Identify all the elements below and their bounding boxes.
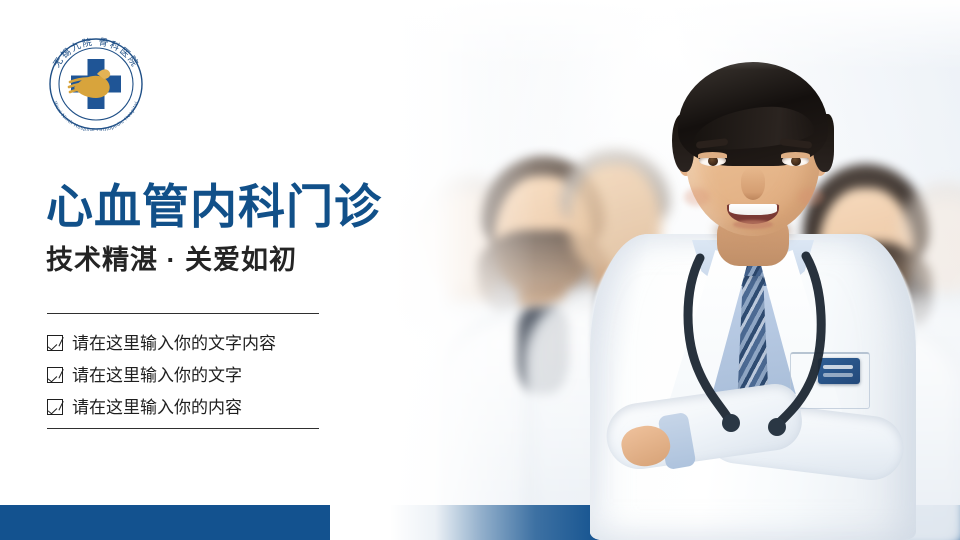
doctor-nose	[741, 168, 765, 200]
doctor-teeth	[729, 204, 777, 215]
doctor-id-badge	[818, 358, 860, 384]
footer-text: 无锡市第九人民医院 | www.yippt.com	[46, 0, 287, 35]
doctor-eyelid-left	[698, 152, 727, 158]
list-item-label: 请在这里输入你的文字内容	[72, 335, 276, 352]
page-title: 心血管内科门诊	[46, 182, 382, 232]
list-item-label: 请在这里输入你的文字	[72, 367, 242, 384]
list-item: 请在这里输入你的文字	[47, 359, 276, 391]
doctor-cheek-right	[798, 188, 824, 206]
divider-bottom	[47, 428, 319, 429]
divider-top	[47, 313, 319, 314]
bullet-list: 请在这里输入你的文字内容 请在这里输入你的文字 请在这里输入你的内容	[47, 327, 276, 423]
doctor-lower-lip	[733, 220, 773, 229]
foreground-doctor	[588, 22, 918, 540]
doctors-photo	[330, 0, 960, 540]
checkbox-checked-icon	[47, 399, 63, 415]
headline-block: 心血管内科门诊 技术精湛 · 关爱如初	[46, 182, 382, 276]
doctor-cheek-left	[684, 188, 710, 206]
hospital-logo: 无锡九院 骨科医院 Wuxi Ninth Hospital Orthopedic…	[42, 37, 150, 131]
checkbox-checked-icon	[47, 367, 63, 383]
page-subtitle: 技术精湛 · 关爱如初	[46, 246, 382, 276]
list-item-label: 请在这里输入你的内容	[72, 399, 242, 416]
checkbox-checked-icon	[47, 335, 63, 351]
list-item: 请在这里输入你的内容	[47, 391, 276, 423]
doctor-eyelid-right	[781, 152, 810, 158]
list-item: 请在这里输入你的文字内容	[47, 327, 276, 359]
doctor-hair	[678, 62, 828, 166]
presentation-cover-slide: 无锡市第九人民医院 | www.yippt.com 无锡九院 骨科医院 Wuxi…	[0, 0, 960, 540]
